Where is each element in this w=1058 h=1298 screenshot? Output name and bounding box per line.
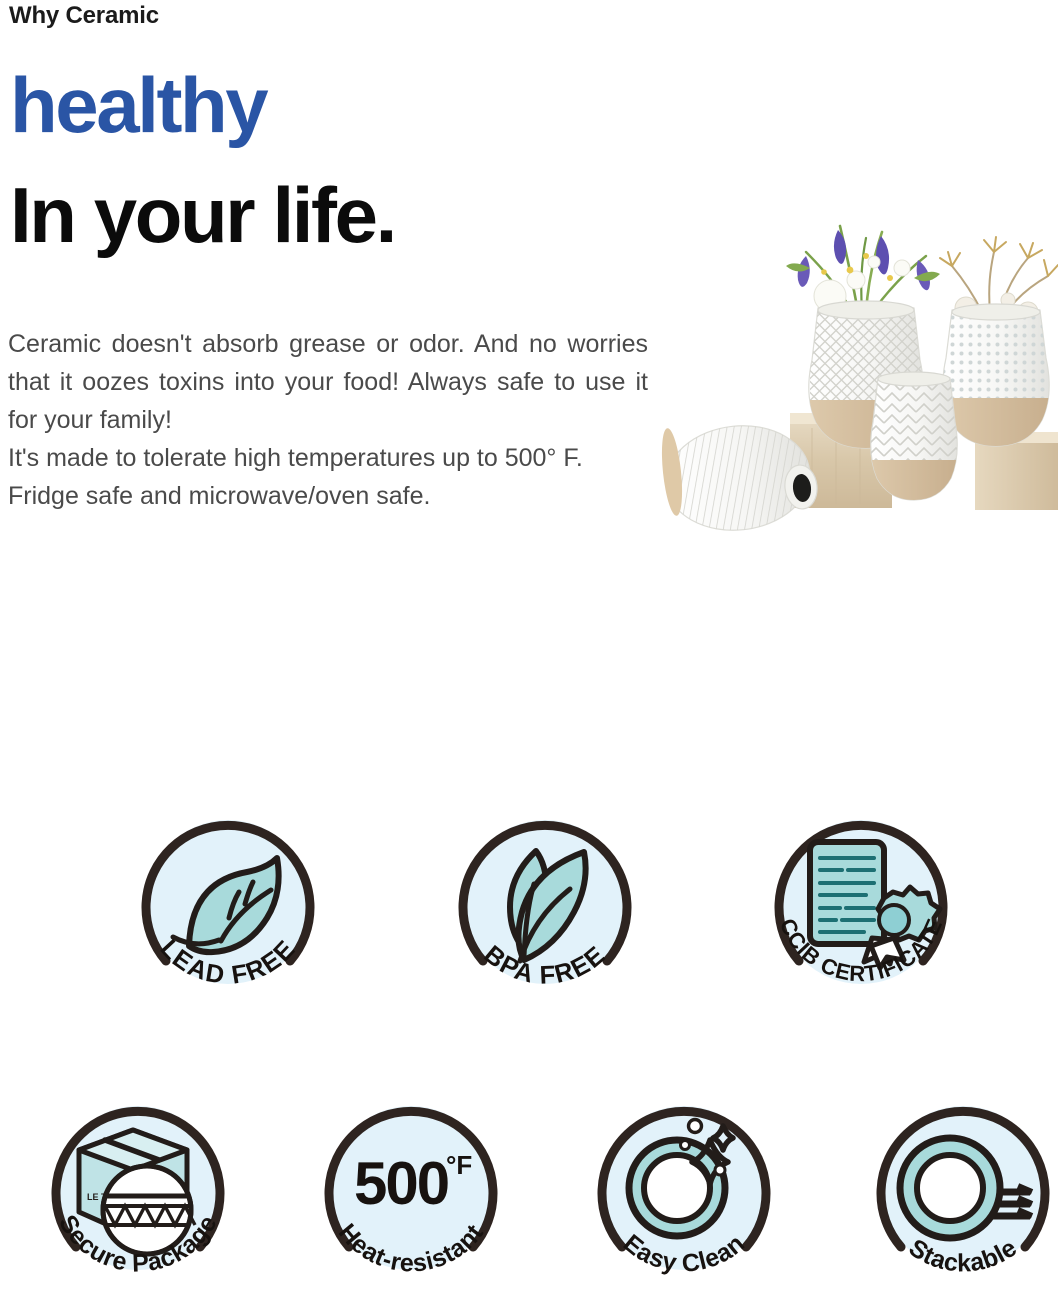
headline-highlight: healthy bbox=[10, 66, 266, 144]
svg-text:LEAD FREE: LEAD FREE bbox=[155, 935, 302, 990]
product-photo bbox=[660, 160, 1058, 580]
svg-text:BPA FREE: BPA FREE bbox=[479, 940, 612, 989]
section-kicker: Why Ceramic bbox=[9, 2, 159, 30]
badge-label: CCIB CERTIFICATE bbox=[775, 915, 948, 987]
two-leaves-icon bbox=[510, 851, 586, 961]
badge-secure-package: LE TAUC Secure Package bbox=[43, 1096, 233, 1286]
badge-label: LEAD FREE bbox=[155, 935, 302, 990]
body-copy: Ceramic doesn't absorb grease or odor. A… bbox=[8, 325, 648, 515]
temperature-icon: 500 °F bbox=[354, 1150, 472, 1217]
badge-bpa-free: BPA FREE bbox=[450, 810, 640, 1000]
badge-label: Easy Clean bbox=[618, 1229, 750, 1278]
badge-label: Stackable bbox=[904, 1234, 1022, 1278]
body-paragraph-1: Ceramic doesn't absorb grease or odor. A… bbox=[8, 325, 648, 439]
badge-easy-clean: Easy Clean bbox=[589, 1096, 779, 1286]
sparkling-plate-icon bbox=[629, 1120, 733, 1237]
leaf-icon bbox=[173, 858, 279, 952]
badge-ccib-certificate: CCIB CERTIFICATE bbox=[766, 810, 956, 1000]
svg-text:Heat-resistant: Heat-resistant bbox=[333, 1218, 489, 1277]
stacked-plates-icon bbox=[900, 1138, 1032, 1238]
temperature-value: 500 bbox=[354, 1150, 448, 1217]
badge-heat-resistant: 500 °F Heat-resistant bbox=[316, 1096, 506, 1286]
body-paragraph-2: It's made to tolerate high temperatures … bbox=[8, 439, 648, 515]
svg-text:Easy Clean: Easy Clean bbox=[618, 1229, 750, 1278]
badge-stackable: Stackable bbox=[868, 1096, 1058, 1286]
temperature-unit: °F bbox=[446, 1150, 472, 1180]
badge-label: Secure Package bbox=[53, 1210, 223, 1277]
badge-label: BPA FREE bbox=[479, 940, 612, 989]
svg-text:CCIB CERTIFICATE: CCIB CERTIFICATE bbox=[775, 915, 948, 987]
svg-text:Secure Package: Secure Package bbox=[53, 1210, 223, 1277]
headline-rest: In your life. bbox=[10, 176, 395, 254]
product-detail-page: Why Ceramic healthy In your life. Cerami… bbox=[0, 0, 1058, 1298]
svg-text:Stackable: Stackable bbox=[904, 1234, 1022, 1278]
package-box-icon: LE TAUC bbox=[79, 1130, 195, 1254]
badge-label: Heat-resistant bbox=[333, 1218, 489, 1277]
package-brand-text: LE TAUC bbox=[87, 1192, 126, 1202]
badge-lead-free: LEAD FREE bbox=[133, 810, 323, 1000]
certificate-icon bbox=[810, 842, 940, 968]
